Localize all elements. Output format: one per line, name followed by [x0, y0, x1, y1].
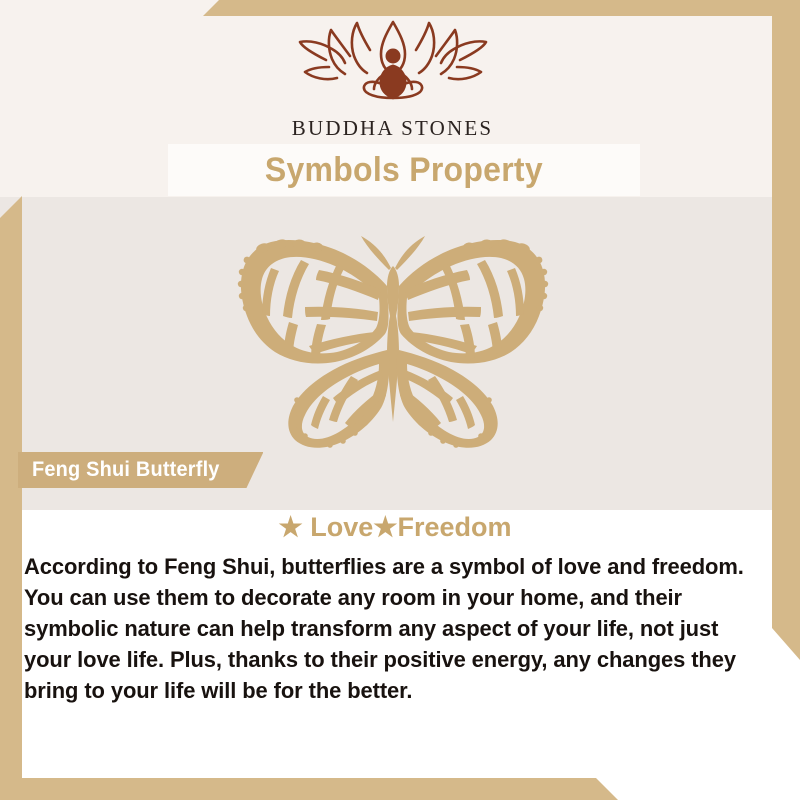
description-paragraph: According to Feng Shui, butterflies are …: [24, 551, 757, 706]
page-title: Symbols Property: [265, 151, 543, 190]
section-banner: Feng Shui Butterfly: [18, 452, 263, 488]
section-banner-label: Feng Shui Butterfly: [32, 458, 220, 482]
gold-bottom-border: [0, 778, 800, 800]
hero-image: [0, 224, 785, 452]
brand-name: BUDDHA STONES: [292, 116, 494, 141]
brand-logo: BUDDHA STONES: [0, 16, 785, 141]
promo-graphic-page: BUDDHA STONES Symbols Property: [0, 0, 800, 800]
butterfly-icon: [213, 224, 573, 452]
page-title-band: Symbols Property: [168, 144, 640, 196]
subheading: ★ Love★Freedom: [0, 512, 790, 543]
lotus-meditation-figure-icon: [288, 16, 498, 112]
